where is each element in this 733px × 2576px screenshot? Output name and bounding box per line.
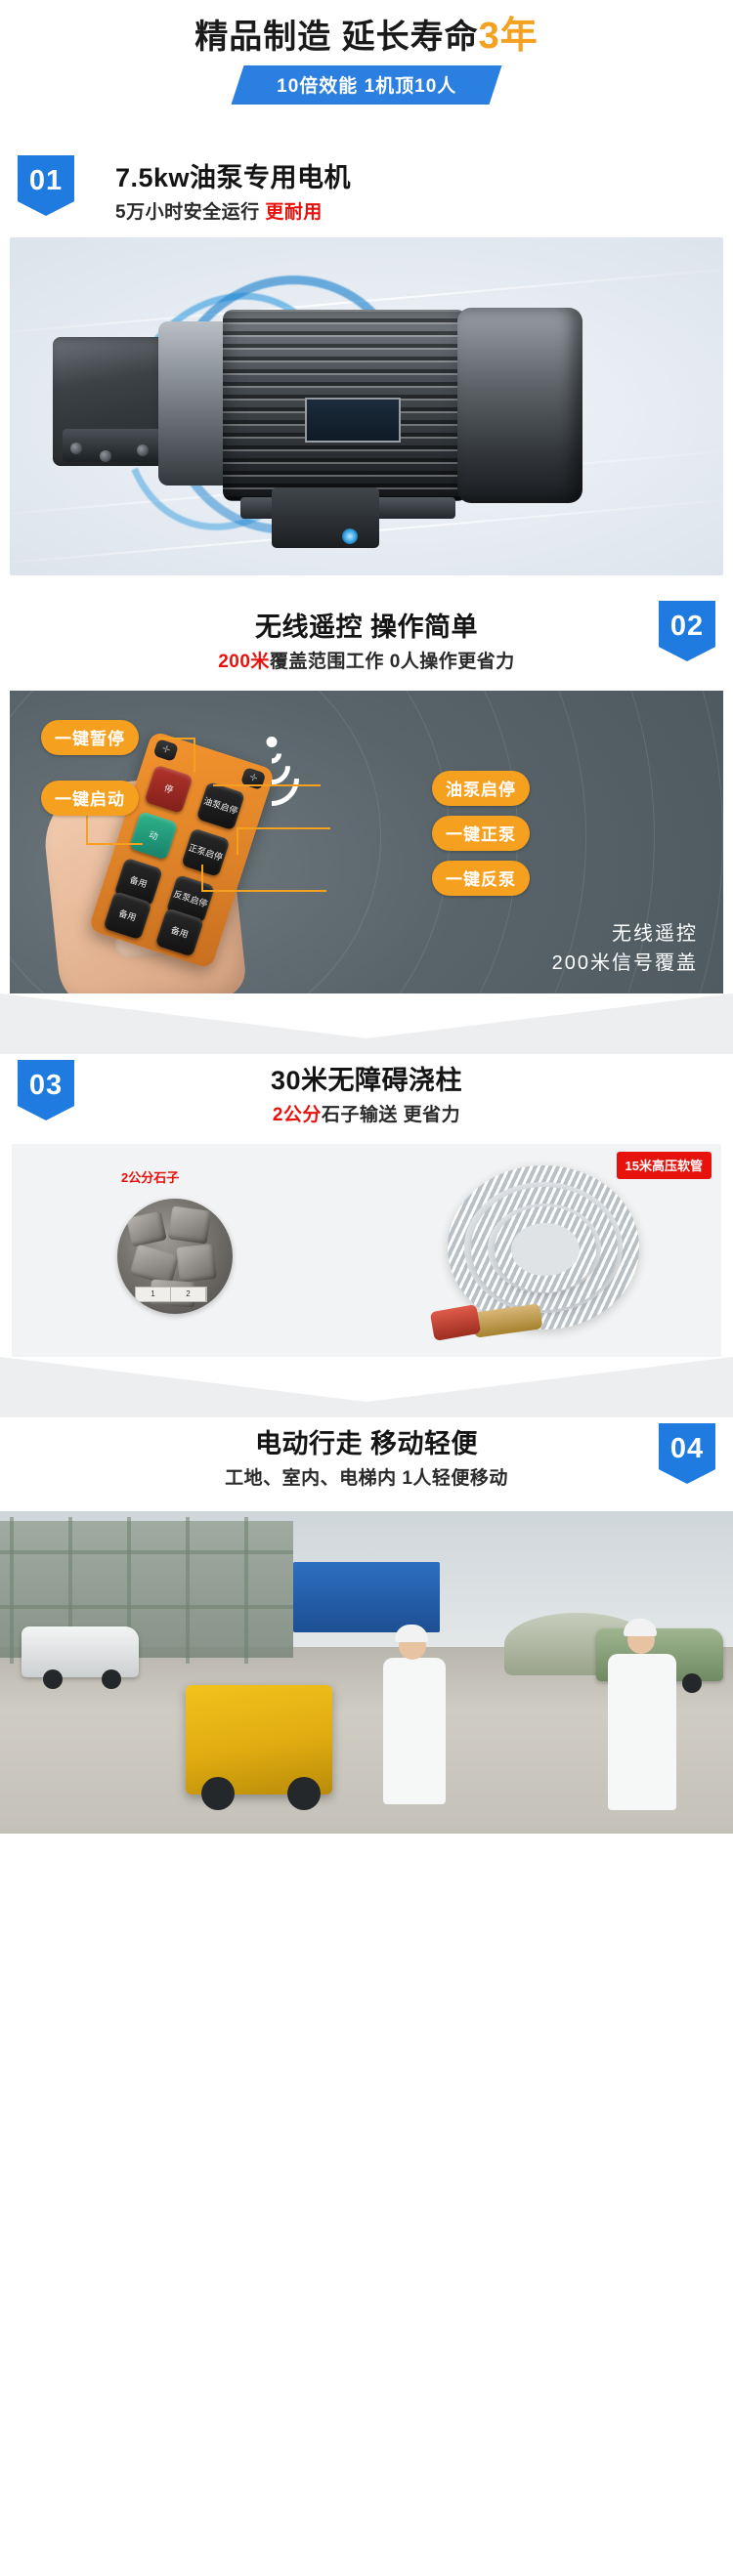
hero-banner-wrap: 10倍效能 1机顶10人 [0, 65, 733, 105]
hero-banner: 10倍效能 1机顶10人 [231, 65, 501, 105]
hose-gravel-panel: 2公分石子 15米高压软管 1 2 [12, 1144, 721, 1357]
hero-banner-label: 10倍效能 1机顶10人 [277, 71, 456, 98]
hose-length-tag: 15米高压软管 [617, 1152, 711, 1179]
motor-bolt [137, 444, 149, 456]
section-03-head: 03 30米无障碍浇柱 2公分石子输送 更省力 [0, 1054, 733, 1144]
chevron-separator [0, 1357, 733, 1417]
motor-terminal-box [272, 487, 379, 548]
hose-coupler-red [430, 1304, 481, 1341]
stone [176, 1244, 217, 1283]
section-02-sub-plain: 覆盖范围工作 0人操作更省力 [270, 652, 515, 672]
section-04-sub-plain: 工地、室内、电梯内 [225, 1468, 402, 1489]
motor-photo-panel [10, 237, 723, 575]
gravel-photo: 1 2 [117, 1199, 233, 1314]
callout-one-key-forward-pump: 一键正泵 [432, 816, 530, 851]
section-01-sub-red: 更耐用 [265, 202, 323, 223]
remote-footnote: 无线遥控 200米信号覆盖 [552, 919, 698, 978]
ruler-mark: 2 [171, 1288, 206, 1301]
hero-title-main: 精品制造 延长寿命 [194, 19, 478, 56]
parked-van [22, 1626, 139, 1677]
hose-coil [495, 1206, 596, 1292]
section-02-subtitle: 200米覆盖范围工作 0人操作更省力 [0, 648, 733, 677]
scaffold-rail [0, 1550, 293, 1554]
wheel [682, 1673, 702, 1693]
page-title: 精品制造 延长寿命3年 [0, 14, 733, 60]
wheel [102, 1669, 121, 1689]
wheel [43, 1669, 63, 1689]
section-04-title: 电动行走 移动轻便 [0, 1425, 733, 1462]
section-01-sub-plain: 5万小时安全运行 [115, 202, 265, 223]
section-01-subtitle: 5万小时安全运行 更耐用 [115, 198, 733, 228]
section-01-head: 01 7.5kw油泵专用电机 5万小时安全运行 更耐用 [0, 126, 733, 237]
callout-one-key-start: 一键启动 [41, 781, 139, 816]
motor-nameplate [305, 398, 401, 443]
callout-leader [158, 738, 195, 773]
worker-person [608, 1654, 676, 1810]
site-signboard [293, 1562, 440, 1632]
section-04-head: 04 电动行走 移动轻便 工地、室内、电梯内 1人轻便移动 [0, 1417, 733, 1511]
scale-ruler: 1 2 [135, 1287, 207, 1302]
section-03-title: 30米无障碍浇柱 [0, 1062, 733, 1099]
machine-wheel [201, 1777, 235, 1810]
section-03-sub-plain: 石子输送 更省力 [322, 1105, 460, 1125]
motor-end-cap [457, 308, 582, 503]
hero-title-accent: 3年 [479, 16, 539, 57]
scaffold-rail [0, 1605, 293, 1609]
scaffold-pole [186, 1517, 190, 1664]
remote-footnote-line1: 无线遥控 [552, 919, 698, 949]
product-detail-page: 精品制造 延长寿命3年 10倍效能 1机顶10人 01 7.5kw油泵专用电机 … [0, 0, 733, 1834]
callout-one-key-pause: 一键暂停 [41, 720, 139, 755]
section-02-sub-red: 200米 [218, 652, 270, 672]
hero-header: 精品制造 延长寿命3年 10倍效能 1机顶10人 [0, 0, 733, 126]
motor-bolt [70, 443, 82, 454]
chevron-separator [0, 993, 733, 1054]
callout-leader [201, 865, 326, 892]
ruler-mark: 1 [136, 1288, 171, 1301]
worker-person [383, 1658, 446, 1804]
stone [126, 1211, 166, 1247]
section-03-sub-red: 2公分 [273, 1105, 322, 1125]
section-02-title: 无线遥控 操作简单 [0, 609, 733, 646]
machine-wheel [287, 1777, 321, 1810]
section-04-subtitle: 工地、室内、电梯内 1人轻便移动 [0, 1464, 733, 1494]
worksite-photo-panel [0, 1511, 733, 1834]
section-02-head: 02 无线遥控 操作简单 200米覆盖范围工作 0人操作更省力 [0, 575, 733, 691]
section-03-subtitle: 2公分石子输送 更省力 [0, 1101, 733, 1130]
remote-control-panel: 停 油泵启停 动 正泵启停 备用 反泵启停 备用 备用 一键暂停 一键启动 油泵… [10, 691, 723, 993]
section-01-title: 7.5kw油泵专用电机 [115, 159, 733, 196]
motor-illustration [49, 296, 635, 530]
scaffold-pole [244, 1517, 248, 1664]
led-glow-icon [342, 528, 358, 544]
stone [168, 1205, 211, 1244]
remote-footnote-line2: 200米信号覆盖 [552, 949, 698, 978]
motor-bolt [100, 450, 111, 462]
callout-pump-start-stop: 油泵启停 [432, 771, 530, 806]
motor-flange [158, 321, 231, 486]
scaffold-pole [10, 1517, 14, 1664]
callout-leader [237, 827, 330, 855]
section-badge-01: 01 [18, 155, 74, 216]
gravel-label: 2公分石子 [121, 1167, 179, 1186]
callout-one-key-reverse-pump: 一键反泵 [432, 861, 530, 896]
callout-leader [213, 784, 321, 786]
hose-photo [391, 1160, 704, 1341]
section-04-sub-bold: 1人轻便移动 [402, 1468, 508, 1489]
